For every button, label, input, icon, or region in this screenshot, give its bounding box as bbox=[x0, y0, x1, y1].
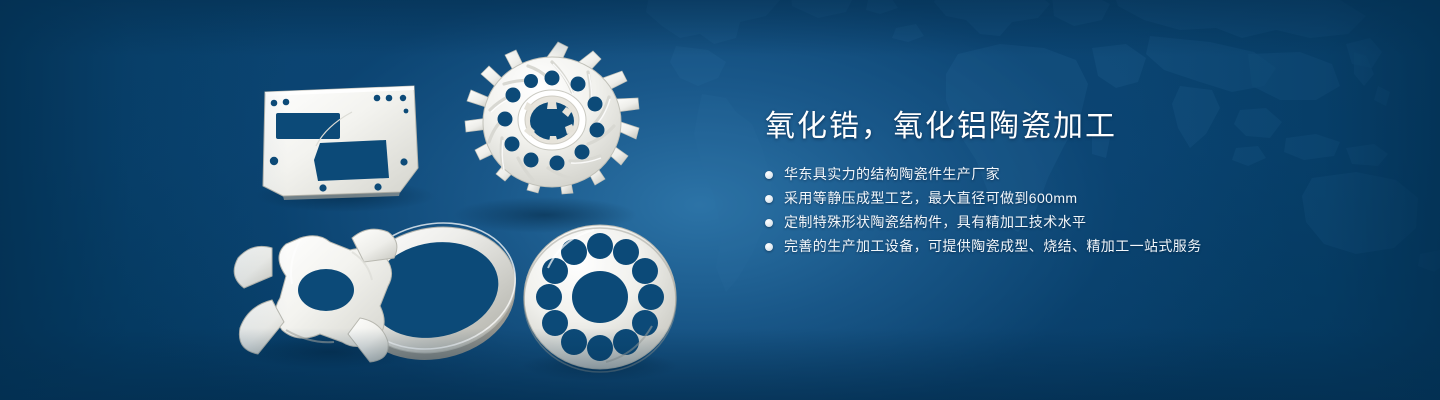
ceramic-impeller bbox=[465, 42, 639, 194]
product-photo-group bbox=[0, 0, 720, 400]
list-item: 定制特殊形状陶瓷结构件，具有精加工技术水平 bbox=[765, 214, 1385, 231]
banner-copy: 氧化锆，氧化铝陶瓷加工 华东具实力的结构陶瓷件生产厂家 采用等静压成型工艺，最大… bbox=[765, 108, 1385, 262]
list-item: 华东具实力的结构陶瓷件生产厂家 bbox=[765, 166, 1385, 183]
bullet-dot-icon bbox=[765, 243, 773, 251]
ceramic-disc bbox=[524, 225, 676, 372]
list-item: 采用等静压成型工艺，最大直径可做到600mm bbox=[765, 190, 1385, 207]
bullet-dot-icon bbox=[765, 195, 773, 203]
feature-list: 华东具实力的结构陶瓷件生产厂家 采用等静压成型工艺，最大直径可做到600mm 定… bbox=[765, 166, 1385, 255]
ceramic-cross bbox=[234, 229, 397, 362]
list-item-label: 定制特殊形状陶瓷结构件，具有精加工技术水平 bbox=[784, 214, 1086, 231]
bullet-dot-icon bbox=[765, 219, 773, 227]
hero-banner: 氧化锆，氧化铝陶瓷加工 华东具实力的结构陶瓷件生产厂家 采用等静压成型工艺，最大… bbox=[0, 0, 1440, 400]
bullet-dot-icon bbox=[765, 171, 773, 179]
list-item: 完善的生产加工设备，可提供陶瓷成型、烧结、精加工一站式服务 bbox=[765, 238, 1385, 255]
list-item-label: 华东具实力的结构陶瓷件生产厂家 bbox=[784, 166, 1000, 183]
ceramic-plate bbox=[263, 86, 418, 200]
page-title: 氧化锆，氧化铝陶瓷加工 bbox=[765, 108, 1385, 146]
list-item-label: 完善的生产加工设备，可提供陶瓷成型、烧结、精加工一站式服务 bbox=[784, 238, 1202, 255]
list-item-label: 采用等静压成型工艺，最大直径可做到600mm bbox=[784, 190, 1077, 207]
